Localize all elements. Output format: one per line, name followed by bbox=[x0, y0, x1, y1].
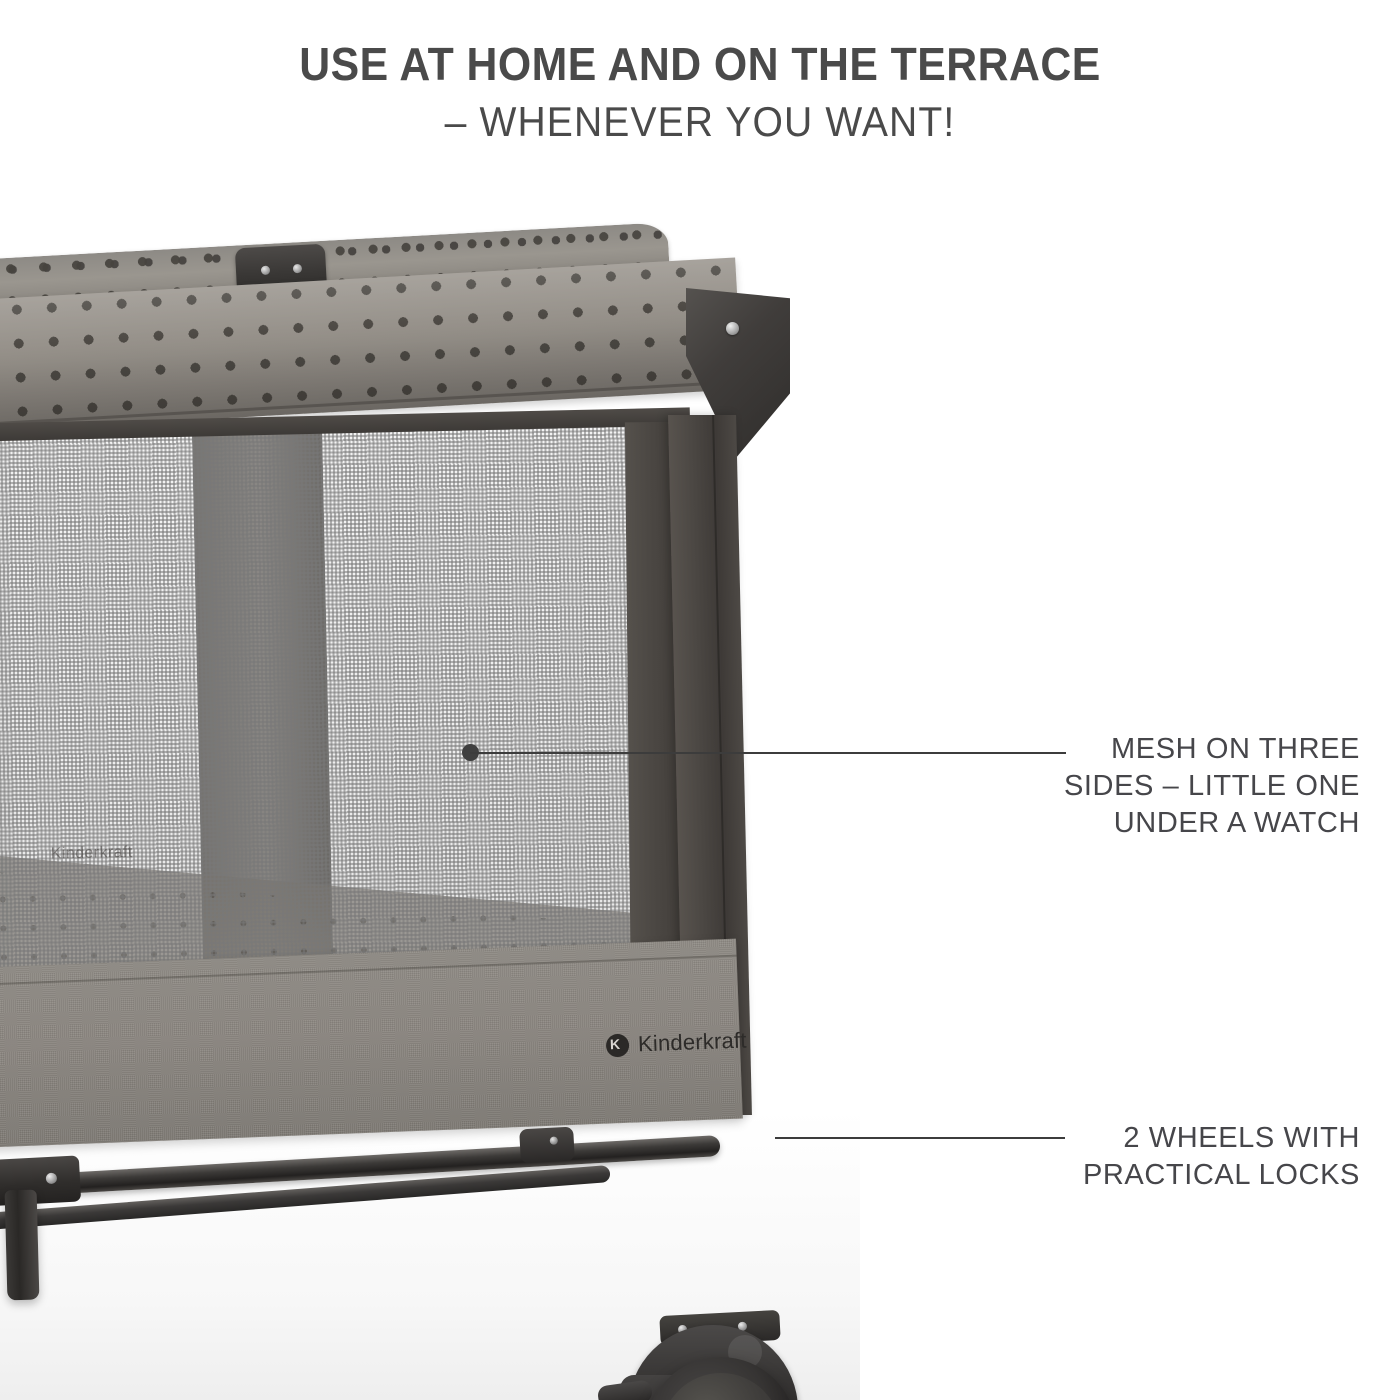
brand-logo: Kinderkraft bbox=[606, 1028, 747, 1059]
page-title: USE AT HOME AND ON THE TERRACE – WHENEVE… bbox=[0, 40, 1400, 146]
mesh-panel: Kinderkraft bbox=[0, 418, 696, 1014]
caster-wheel-assembly bbox=[600, 1325, 850, 1400]
callout-wheels-line-1: 2 WHEELS WITH bbox=[1020, 1120, 1360, 1157]
callout-mesh: MESH ON THREE SIDES – LITTLE ONE UNDER A… bbox=[1020, 731, 1360, 842]
mesh-weave-texture bbox=[0, 418, 696, 1014]
callout-wheels-line-2: PRACTICAL LOCKS bbox=[1020, 1157, 1360, 1194]
rivet-icon bbox=[550, 1136, 558, 1144]
callout-mesh-line-3: UNDER A WATCH bbox=[1020, 805, 1360, 842]
rivet-icon bbox=[261, 266, 270, 275]
brand-name-label: Kinderkraft bbox=[638, 1028, 747, 1058]
inner-brand-label: Kinderkraft bbox=[51, 844, 133, 864]
wheel-brake-lever bbox=[597, 1379, 654, 1400]
callout-leader-line-mesh bbox=[470, 752, 1066, 754]
leg-foot bbox=[5, 1190, 40, 1301]
headline-line-1: USE AT HOME AND ON THE TERRACE bbox=[49, 40, 1351, 90]
product-photo: Kinderkraft Kinderkraft bbox=[0, 230, 830, 1400]
callout-mesh-line-1: MESH ON THREE bbox=[1020, 731, 1360, 768]
marketing-image: USE AT HOME AND ON THE TERRACE – WHENEVE… bbox=[0, 0, 1400, 1400]
kinderkraft-mark-icon bbox=[606, 1033, 630, 1057]
rivet-icon bbox=[46, 1173, 58, 1185]
callout-mesh-line-2: SIDES – LITTLE ONE bbox=[1020, 768, 1360, 805]
frame-joint bbox=[519, 1127, 575, 1164]
rivet-icon bbox=[293, 264, 302, 273]
headline-line-2: – WHENEVER YOU WANT! bbox=[49, 98, 1351, 146]
rivet-icon bbox=[726, 322, 739, 335]
callout-wheels: 2 WHEELS WITH PRACTICAL LOCKS bbox=[1020, 1120, 1360, 1194]
wheel-disc bbox=[661, 1373, 781, 1400]
